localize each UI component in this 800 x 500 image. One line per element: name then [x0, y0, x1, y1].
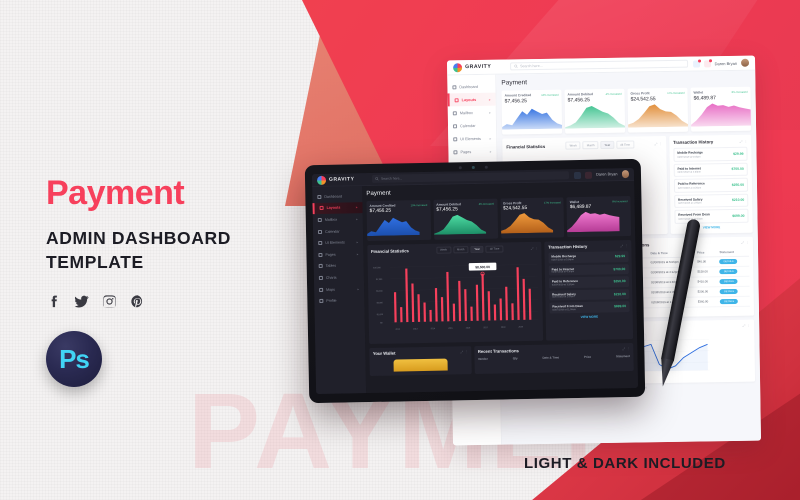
facebook-icon[interactable]: [46, 294, 61, 309]
stat-card-amount-debited: Amount Debited4% Increased $7,456.25: [564, 89, 625, 134]
column-header-price: Price: [584, 355, 591, 359]
column-header-price: Price: [694, 248, 717, 257]
sparkline-chart: [628, 103, 688, 128]
details-button[interactable]: DETAILS: [720, 298, 738, 303]
list-item[interactable]: Paid to Reference02/07/2019 at 3:20pm$25…: [549, 276, 629, 288]
sidebar-item-ui-elements[interactable]: UI Elements▸: [313, 237, 363, 250]
ui-icon: [453, 137, 457, 141]
tab-year[interactable]: Year: [470, 246, 484, 253]
stat-card-badge: 10% Increased: [411, 203, 428, 206]
dark-main-content: Payment Amount Credited10% Increased $7,…: [362, 181, 638, 393]
stat-card-value: $24,542.55: [631, 96, 685, 103]
mail-icon: [453, 111, 457, 115]
chevron-down-icon: ▸: [357, 252, 359, 256]
stat-card-badge: 17% Increased: [667, 92, 684, 95]
chevron-down-icon: ▸: [490, 149, 492, 153]
twitter-icon[interactable]: [74, 294, 89, 309]
stat-card-wallet: Wallet8% Increased $6,489.87: [690, 87, 751, 132]
x-tick-label: 2014: [430, 328, 435, 330]
chevron-down-icon: ▸: [356, 217, 358, 221]
sidebar-item-label: Maps: [326, 287, 335, 291]
sidebar-item-label: Tables: [326, 264, 336, 268]
gravity-logo-icon: [317, 175, 326, 184]
sidebar-item-label: UI Elements: [325, 241, 345, 245]
x-tick-label: 2012: [395, 329, 400, 331]
column-header-statement: Statement: [616, 354, 630, 358]
chevron-down-icon: ▸: [489, 97, 491, 101]
instagram-icon[interactable]: [102, 294, 117, 309]
mic-icon: [484, 166, 487, 169]
stat-card-wallet: Wallet8% Increased $6,489.87: [567, 196, 631, 237]
search-icon: [514, 64, 518, 68]
stat-card-badge: 8% Increased: [612, 200, 627, 203]
light-search-input[interactable]: Search here...: [510, 60, 688, 71]
stat-card-badge: 4% Increased: [479, 202, 494, 205]
panel-title: Financial Statistics: [371, 248, 409, 254]
panel-menu-icon[interactable]: ⤢ ⋮: [743, 324, 751, 328]
dark-theme-dashboard: GRAVITY Search here... Daren Bryan Dashb…: [312, 168, 638, 394]
sidebar-item-mailbox[interactable]: Mailbox▸: [313, 213, 363, 226]
details-button[interactable]: DETAILS: [720, 278, 738, 283]
notifications-icon[interactable]: [704, 60, 711, 67]
table-icon: [319, 264, 323, 268]
chart-tooltip: $8,500.00: [475, 265, 490, 269]
list-item[interactable]: Paid to Internet02/07/2019 at 4:30pm$700…: [673, 162, 747, 177]
dark-panels-row: Financial Statistics Week Month Year All…: [367, 239, 633, 343]
details-button[interactable]: DETAILS: [720, 258, 738, 263]
tab-month[interactable]: Month: [453, 246, 469, 253]
svg-text:$1,000: $1,000: [376, 314, 383, 316]
stat-card-label: Gross Profit: [503, 201, 521, 205]
tab-all-time[interactable]: All Time: [486, 245, 504, 252]
x-tick-label: 2013: [413, 328, 418, 330]
sidebar-item-tables[interactable]: Tables: [314, 260, 364, 273]
sidebar-item-label: Profile: [326, 299, 336, 303]
panel-title: Transaction History: [673, 139, 713, 145]
promo-subtitle-line1: ADMIN DASHBOARD: [46, 226, 296, 250]
sidebar-item-label: Pages: [325, 252, 335, 256]
transaction-history-panel: Transaction History ⤢ ⋮ Mobile Recharge0…: [545, 239, 634, 340]
brand-name: GRAVITY: [329, 176, 354, 182]
stat-card-value: $6,489.87: [694, 95, 748, 102]
sidebar-item-label: Layouts: [462, 97, 477, 101]
sidebar-item-maps[interactable]: Maps▸: [314, 283, 364, 296]
stat-card-value: $7,456.25: [505, 98, 559, 105]
panel-menu-icon[interactable]: ⤢ ⋮: [741, 241, 749, 245]
sparkline-chart: [502, 105, 562, 130]
svg-text:$0: $0: [380, 322, 383, 324]
chevron-down-icon: ▸: [356, 206, 358, 210]
stat-card-badge: 10% Increased: [541, 94, 558, 97]
notifications-icon[interactable]: [585, 171, 592, 178]
sidebar-item-dashboard[interactable]: Dashboard: [312, 190, 362, 203]
column-header-qty: Qty: [513, 356, 518, 360]
messages-icon[interactable]: [693, 60, 700, 67]
messages-icon[interactable]: [574, 171, 581, 178]
sidebar-item-label: Calendar: [460, 124, 475, 128]
sidebar-item-label: Mailbox: [325, 218, 337, 222]
pages-icon: [453, 150, 457, 154]
dark-stat-cards: Amount Credited10% Increased $7,456.25 A…: [366, 196, 631, 241]
panel-menu-icon[interactable]: ⤢ ⋮: [531, 246, 539, 250]
promo-panel: Payment ADMIN DASHBOARD TEMPLATE Ps: [46, 176, 296, 387]
promo-title: Payment: [46, 176, 296, 210]
sparkline-chart: [567, 210, 620, 232]
gravity-logo-icon: [453, 63, 462, 72]
financial-bar-chart: $10,000 $7,000 $5,000 $3,000 $1,000 $0: [371, 254, 540, 335]
list-item[interactable]: Mobile Recharge02/07/2019 at 5:06pm$29.9…: [548, 251, 628, 263]
sidebar-item-layouts[interactable]: Layouts▸: [312, 202, 362, 215]
x-tick-label: 2015: [448, 328, 453, 330]
wallet-card-graphic: [394, 359, 447, 372]
tablet-device: GRAVITY Search here... Daren Bryan Dashb…: [305, 159, 646, 403]
panel-menu-icon[interactable]: ⤢ ⋮: [740, 139, 748, 143]
stat-card-badge: 17% Increased: [544, 201, 561, 204]
list-item[interactable]: Paid to Reference02/07/2019 at 3:20pm$25…: [674, 178, 748, 193]
x-tick-label: 2016: [465, 327, 470, 329]
tab-month[interactable]: Month: [583, 141, 599, 149]
photoshop-badge: Ps: [46, 331, 102, 387]
transaction-history-panel: Transaction History ⤢ ⋮ Mobile Recharge0…: [669, 135, 753, 234]
your-wallet-panel: Your Wallet⤢ ⋮: [369, 346, 472, 376]
chevron-down-icon: ▸: [489, 110, 491, 114]
search-icon: [375, 177, 379, 181]
camera-icon: [471, 166, 474, 169]
sidebar-item-layouts[interactable]: Layouts▸: [448, 93, 496, 107]
stat-card-amount-debited: Amount Debited4% Increased $7,456.25: [433, 199, 497, 240]
list-item[interactable]: Received From Dean02/07/2019 at 11:00am$…: [674, 209, 748, 224]
sidebar-item-calendar[interactable]: Calendar: [313, 225, 363, 238]
stat-card-label: Gross Profit: [631, 91, 650, 95]
tab-week[interactable]: Week: [436, 246, 451, 253]
dark-brand[interactable]: GRAVITY: [317, 175, 367, 185]
sidebar-item-label: Pages: [460, 150, 471, 154]
sidebar-item-pages[interactable]: Pages▸: [448, 145, 496, 159]
panel-menu-icon[interactable]: ⤢ ⋮: [460, 350, 468, 354]
stat-card-gross-profit: Gross Profit17% Increased $24,542.55: [500, 197, 564, 238]
dark-search-placeholder: Search here...: [381, 176, 402, 180]
promo-subtitle: ADMIN DASHBOARD TEMPLATE: [46, 226, 296, 274]
grid-icon: [452, 85, 456, 89]
sidebar-item-dashboard[interactable]: Dashboard: [447, 80, 495, 94]
transaction-list: Mobile Recharge02/07/2019 at 5:06pm$29.9…: [673, 147, 748, 230]
panel-menu-icon[interactable]: ⤢ ⋮: [620, 244, 628, 248]
transaction-list: Mobile Recharge02/07/2019 at 5:06pm$29.9…: [548, 251, 629, 319]
chart-range-tabs: Week Month Year All Time: [566, 141, 635, 150]
light-brand[interactable]: GRAVITY: [453, 62, 505, 72]
mail-icon: [318, 218, 322, 222]
page-title: Payment: [366, 185, 630, 197]
sidebar-item-label: UI Elements: [460, 136, 481, 140]
calendar-icon: [453, 124, 457, 128]
dark-topbar-actions: Daren Bryan: [574, 170, 629, 179]
user-icon: [319, 299, 323, 303]
bottom-caption: LIGHT & DARK INCLUDED: [524, 455, 726, 472]
social-links: [46, 294, 296, 309]
chevron-down-icon: ▸: [357, 287, 359, 291]
details-button[interactable]: DETAILS: [720, 288, 738, 293]
stat-card-label: Amount Debited: [436, 202, 461, 206]
view-more-button[interactable]: VIEW MORE: [549, 314, 629, 320]
recent-transactions-panel: Recent Transactions⤢ ⋮ Vendor Qty Date &…: [474, 342, 634, 373]
promo-subtitle-line2: TEMPLATE: [46, 250, 296, 274]
dark-user-name[interactable]: Daren Bryan: [596, 172, 617, 176]
stat-card-gross-profit: Gross Profit17% Increased $24,542.55: [627, 88, 688, 133]
calendar-icon: [318, 230, 322, 234]
avatar[interactable]: [741, 59, 749, 67]
light-stat-cards: Amount Credited10% Increased $7,456.25 A…: [501, 87, 751, 135]
sidebar-item-pages[interactable]: Pages▸: [313, 248, 363, 261]
panel-menu-icon[interactable]: ⤢ ⋮: [654, 142, 662, 146]
panel-title: Your Wallet: [373, 351, 396, 356]
sensor-icon: [458, 166, 461, 169]
dark-bottom-row: Your Wallet⤢ ⋮ Recent Transactions⤢ ⋮ Ve…: [369, 342, 633, 375]
stat-card-label: Amount Credited: [369, 203, 395, 207]
ui-icon: [318, 241, 322, 245]
pinterest-icon[interactable]: [130, 294, 145, 309]
sparkline-chart: [691, 102, 751, 127]
panel-menu-icon[interactable]: ⤢ ⋮: [622, 347, 630, 351]
list-item[interactable]: Received From Dean02/07/2019 at 11:00am$…: [549, 301, 629, 313]
sparkline-chart: [367, 214, 420, 236]
light-search-placeholder: Search here...: [520, 64, 543, 68]
svg-text:$5,000: $5,000: [376, 291, 383, 293]
tab-year[interactable]: Year: [600, 141, 614, 149]
sidebar-item-label: Dashboard: [459, 84, 478, 88]
grid-icon: [317, 195, 321, 199]
svg-text:$7,000: $7,000: [376, 279, 383, 281]
column-header-datetime: Date & Time: [542, 355, 559, 359]
list-item[interactable]: Paid to Internet02/07/2019 at 4:30pm$700…: [549, 264, 629, 276]
stat-card-label: Wallet: [570, 199, 579, 203]
svg-text:$3,000: $3,000: [376, 302, 383, 304]
sidebar-item-label: Charts: [326, 276, 337, 280]
details-button[interactable]: DETAILS: [720, 268, 738, 273]
list-item[interactable]: Received Salary02/07/2019 at 1:00pm$210.…: [549, 289, 629, 301]
table-header-row: Vendor Qty Date & Time Price Statement: [478, 354, 630, 361]
sparkline-chart: [433, 212, 486, 234]
stat-card-amount-credited: Amount Credited10% Increased $7,456.25: [501, 90, 562, 135]
layout-icon: [320, 206, 324, 210]
pages-icon: [318, 253, 322, 257]
panel-title: Recent Transactions: [478, 348, 519, 354]
stat-card-label: Wallet: [693, 90, 703, 94]
dark-search-input[interactable]: Search here...: [372, 171, 569, 182]
chart-range-tabs: Week Month Year All Time: [436, 245, 503, 253]
dark-sidebar: Dashboard Layouts▸ Mailbox▸ Calendar UI …: [312, 186, 366, 394]
tab-week[interactable]: Week: [566, 141, 581, 149]
list-item[interactable]: Received Salary02/07/2019 at 1:00pm$210.…: [674, 193, 748, 208]
stat-card-label: Amount Credited: [505, 93, 532, 97]
x-tick-label: 2017: [483, 327, 488, 329]
sidebar-item-label: Dashboard: [324, 194, 342, 198]
x-tick-label: 2018: [500, 327, 505, 329]
sidebar-item-ui-elements[interactable]: UI Elements▸: [448, 132, 496, 146]
avatar[interactable]: [621, 170, 629, 178]
stat-card-badge: 8% Increased: [732, 91, 748, 94]
brand-name: GRAVITY: [465, 64, 491, 70]
stat-card-label: Amount Debited: [568, 92, 594, 96]
chevron-down-icon: ▸: [490, 136, 492, 140]
list-item[interactable]: Mobile Recharge02/07/2019 at 5:06pm$29.9…: [673, 147, 747, 162]
financial-statistics-panel: Financial Statistics Week Month Year All…: [367, 241, 543, 343]
page-title: Payment: [501, 76, 750, 87]
stat-card-value: $7,456.25: [568, 97, 622, 104]
chevron-down-icon: ▸: [357, 240, 359, 244]
sidebar-item-label: Calendar: [325, 229, 340, 233]
sidebar-item-mailbox[interactable]: Mailbox▸: [448, 106, 496, 120]
sidebar-item-label: Layouts: [327, 206, 341, 210]
sidebar-item-profile[interactable]: Profile: [314, 294, 364, 307]
chart-icon: [319, 276, 323, 280]
column-header-vendor: Vendor: [478, 357, 488, 361]
sparkline-chart: [565, 104, 625, 129]
stat-card-amount-credited: Amount Credited10% Increased $7,456.25: [366, 200, 430, 241]
tab-all-time[interactable]: All Time: [616, 141, 634, 149]
light-topbar-actions: Daren Bryan: [693, 59, 750, 68]
sidebar-item-charts[interactable]: Charts: [314, 271, 364, 284]
light-user-name[interactable]: Daren Bryan: [715, 60, 738, 65]
panel-title: Financial Statistics: [506, 143, 545, 149]
sparkline-chart: [500, 211, 553, 233]
sidebar-item-label: Mailbox: [460, 111, 473, 115]
stat-card-badge: 4% Increased: [606, 93, 622, 96]
sidebar-item-calendar[interactable]: Calendar: [448, 119, 496, 133]
svg-text:$10,000: $10,000: [373, 267, 381, 269]
map-icon: [319, 287, 323, 291]
layout-icon: [455, 98, 459, 102]
panel-title: Transaction History: [548, 244, 587, 250]
x-tick-label: 2019: [518, 326, 523, 328]
